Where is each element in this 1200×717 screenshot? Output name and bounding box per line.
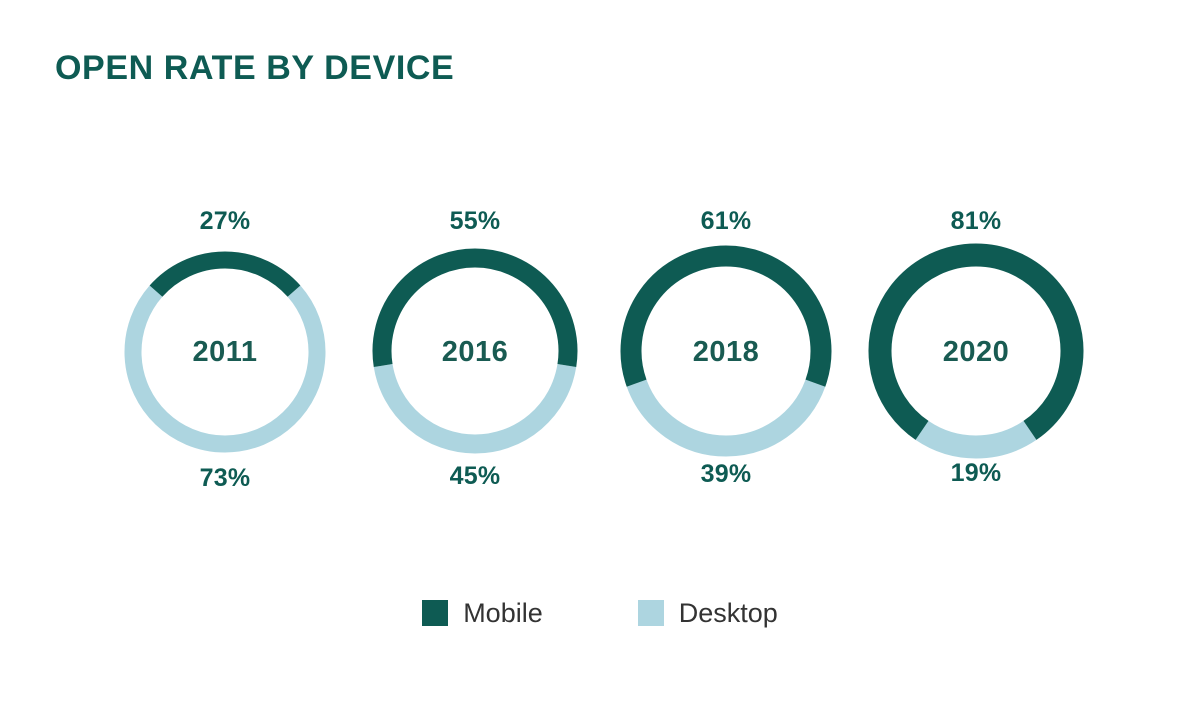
donut-chart-2011[interactable]: 27% 2011 73% <box>100 196 350 516</box>
desktop-percent-label: 45% <box>350 462 600 491</box>
donut-chart-2016[interactable]: 55% 2016 45% <box>350 196 600 516</box>
chart-legend: Mobile Desktop <box>0 598 1200 628</box>
donut-chart-2018[interactable]: 61% 2018 39% <box>601 196 851 516</box>
desktop-percent-label: 73% <box>100 464 350 493</box>
donut-chart-2020[interactable]: 81% 2020 19% <box>851 196 1101 516</box>
year-label: 2016 <box>350 336 600 369</box>
year-label: 2020 <box>851 336 1101 369</box>
legend-label-desktop: Desktop <box>679 598 778 628</box>
donut-chart-row: 27% 2011 73% 55% 2016 45% 61% 2018 39% 8… <box>0 196 1200 516</box>
desktop-percent-label: 39% <box>601 460 851 489</box>
desktop-percent-label: 19% <box>851 459 1101 488</box>
donut-segment-desktop <box>922 430 1030 447</box>
legend-swatch-mobile <box>422 600 448 626</box>
legend-item-mobile[interactable]: Mobile <box>422 598 543 628</box>
legend-item-desktop[interactable]: Desktop <box>638 598 778 628</box>
donut-segment-desktop <box>637 383 816 446</box>
legend-swatch-desktop <box>638 600 664 626</box>
year-label: 2011 <box>100 336 350 369</box>
legend-label-mobile: Mobile <box>463 598 543 628</box>
donut-segment-desktop <box>383 366 567 444</box>
page-title: OPEN RATE BY DEVICE <box>55 47 454 89</box>
year-label: 2018 <box>601 336 851 369</box>
donut-segment-mobile <box>156 260 294 291</box>
